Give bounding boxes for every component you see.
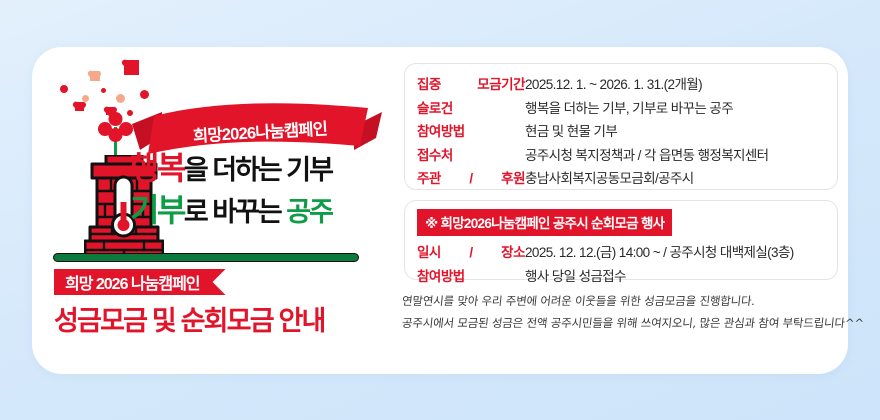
info-row: 주관 / 후원 충남사회복지공동모금회/공주시: [417, 167, 825, 187]
info-row: 슬로건 행복을 더하는 기부, 기부로 바꾸는 공주: [417, 97, 825, 117]
info-row: 집중 모금기간 2025.12. 1. ~ 2026. 1. 31.(2개월): [417, 73, 825, 93]
info-label: 주관 / 후원: [417, 167, 525, 187]
slogan-accent-donation: 기부: [130, 192, 184, 228]
ground-bar: [53, 253, 359, 262]
dot-icon: [82, 95, 89, 102]
page-title: 성금모금 및 순회모금 안내: [54, 299, 325, 338]
info-value: 2025.12. 1. ~ 2026. 1. 31.(2개월): [525, 73, 702, 93]
campaign-tag-label: 희망 2026 나눔캠페인: [65, 270, 200, 294]
slogan-block: 행복을 더하는 기부 기부로 바꾸는 공주: [130, 147, 382, 231]
poster-root: 희망2026나눔캠페인 행복을 더하는 기부 기부로 바꾸는 공주 희망 202…: [0, 0, 880, 420]
info-box-campaign: 집중 모금기간 2025.12. 1. ~ 2026. 1. 31.(2개월) …: [404, 63, 838, 190]
info-value: 충남사회복지공동모금회/공주시: [525, 167, 694, 187]
slogan-line-1: 행복을 더하는 기부: [130, 147, 382, 189]
info-row: 접수처 공주시청 복지정책과 / 각 읍면동 행정복지센터: [417, 144, 825, 164]
white-card: 희망2026나눔캠페인 행복을 더하는 기부 기부로 바꾸는 공주 희망 202…: [32, 47, 848, 374]
heart-icon: [124, 60, 139, 75]
info-label: 일시 / 장소: [417, 241, 525, 261]
slogan-rest-1: 을 더하는 기부: [184, 155, 332, 185]
left-graphic-panel: 희망2026나눔캠페인 행복을 더하는 기부 기부로 바꾸는 공주 희망 202…: [32, 47, 382, 374]
dot-icon: [140, 90, 149, 99]
info-value: 행복을 더하는 기부, 기부로 바꾸는 공주: [525, 97, 733, 117]
notice-banner: ※ 희망2026나눔캠페인 공주시 순회모금 행사: [417, 209, 672, 236]
info-value: 공주시청 복지정책과 / 각 읍면동 행정복지센터: [525, 144, 768, 164]
info-row: 참여방법 행사 당일 성금접수: [417, 265, 825, 285]
heart-icon: [75, 102, 84, 111]
slogan-line-2: 기부로 바꾸는 공주: [130, 189, 382, 231]
info-value: 2025. 12. 12.(금) 14:00 ~ / 공주시청 대백제실(3층): [525, 241, 794, 261]
dot-icon: [116, 94, 125, 103]
info-value: 행사 당일 성금접수: [525, 265, 626, 285]
info-label: 참여방법: [417, 120, 525, 140]
handwritten-note: 연말연시를 맞아 우리 주변에 어려운 이웃들을 위한 성금모금을 진행합니다.…: [402, 290, 848, 335]
note-line: 공주시에서 모금된 성금은 전액 공주시민들을 위해 쓰여지오니, 많은 관심과…: [401, 312, 849, 334]
dot-icon: [60, 85, 68, 93]
info-row: 일시 / 장소 2025. 12. 12.(금) 14:00 ~ / 공주시청 …: [417, 241, 825, 261]
slogan-accent-happiness: 행복: [130, 150, 184, 186]
slogan-mid-2: 로 바꾸는: [184, 197, 286, 227]
campaign-tag: 희망 2026 나눔캠페인: [54, 269, 226, 295]
dot-icon: [101, 88, 106, 93]
info-value: 현금 및 현물 기부: [525, 120, 617, 140]
info-label: 슬로건: [417, 97, 525, 117]
info-label: 집중 모금기간: [417, 73, 525, 93]
heart-icon: [90, 71, 100, 81]
info-row: 참여방법 현금 및 현물 기부: [417, 120, 825, 140]
slogan-accent-gongju: 공주: [286, 197, 332, 227]
info-label: 접수처: [417, 144, 525, 164]
info-label: 참여방법: [417, 265, 525, 285]
note-line: 연말연시를 맞아 우리 주변에 어려운 이웃들을 위한 성금모금을 진행합니다.: [401, 290, 849, 312]
right-info-panel: 집중 모금기간 2025.12. 1. ~ 2026. 1. 31.(2개월) …: [382, 47, 848, 374]
info-box-event: ※ 희망2026나눔캠페인 공주시 순회모금 행사 일시 / 장소 2025. …: [404, 200, 838, 280]
